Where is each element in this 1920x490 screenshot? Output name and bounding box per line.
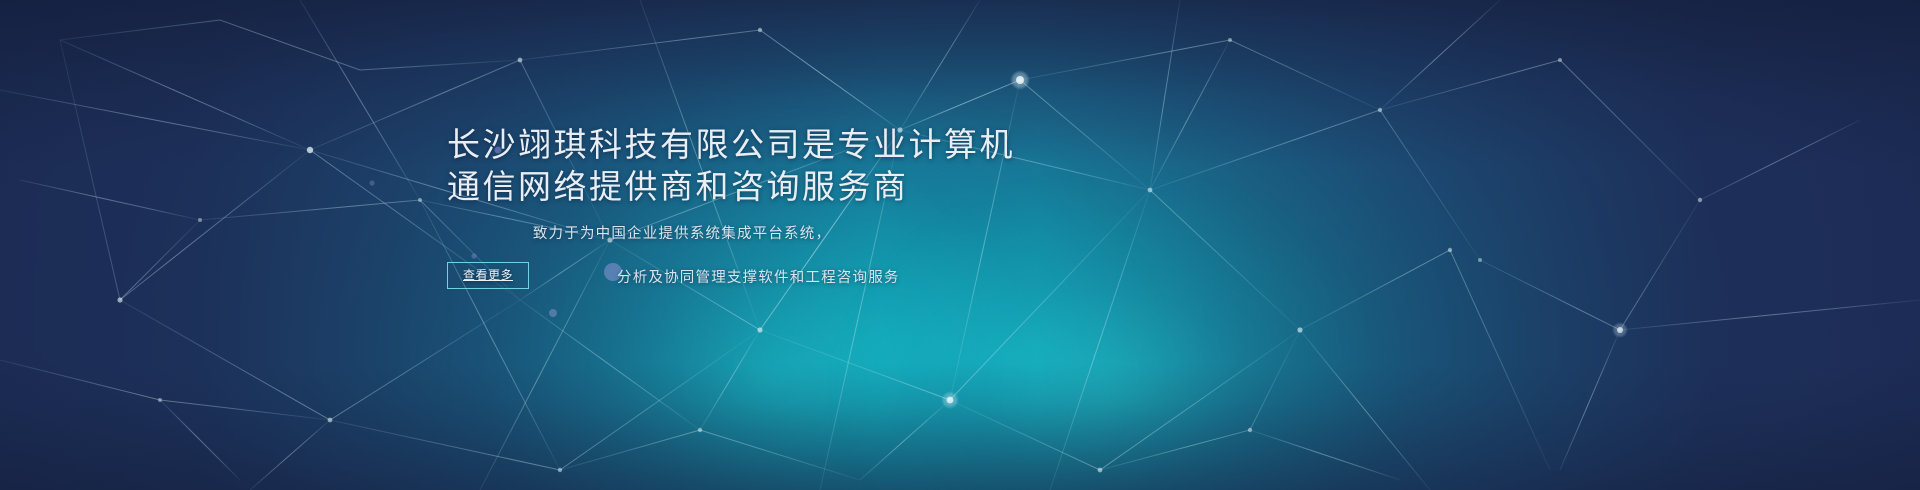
hero-banner: 长沙翊琪科技有限公司是专业计算机 通信网络提供商和咨询服务商 致力于为中国企业提…	[0, 0, 1920, 490]
banner-content: 长沙翊琪科技有限公司是专业计算机 通信网络提供商和咨询服务商 致力于为中国企业提…	[0, 0, 1920, 490]
headline: 长沙翊琪科技有限公司是专业计算机 通信网络提供商和咨询服务商	[447, 124, 917, 208]
headline-line-2: 通信网络提供商和咨询服务商	[447, 166, 917, 208]
subtitle-line-1: 致力于为中国企业提供系统集成平台系统，	[447, 222, 917, 246]
cta-row: 查看更多	[447, 262, 917, 289]
headline-line-1: 长沙翊琪科技有限公司是专业计算机	[447, 126, 1015, 163]
view-more-button[interactable]: 查看更多	[447, 262, 529, 289]
